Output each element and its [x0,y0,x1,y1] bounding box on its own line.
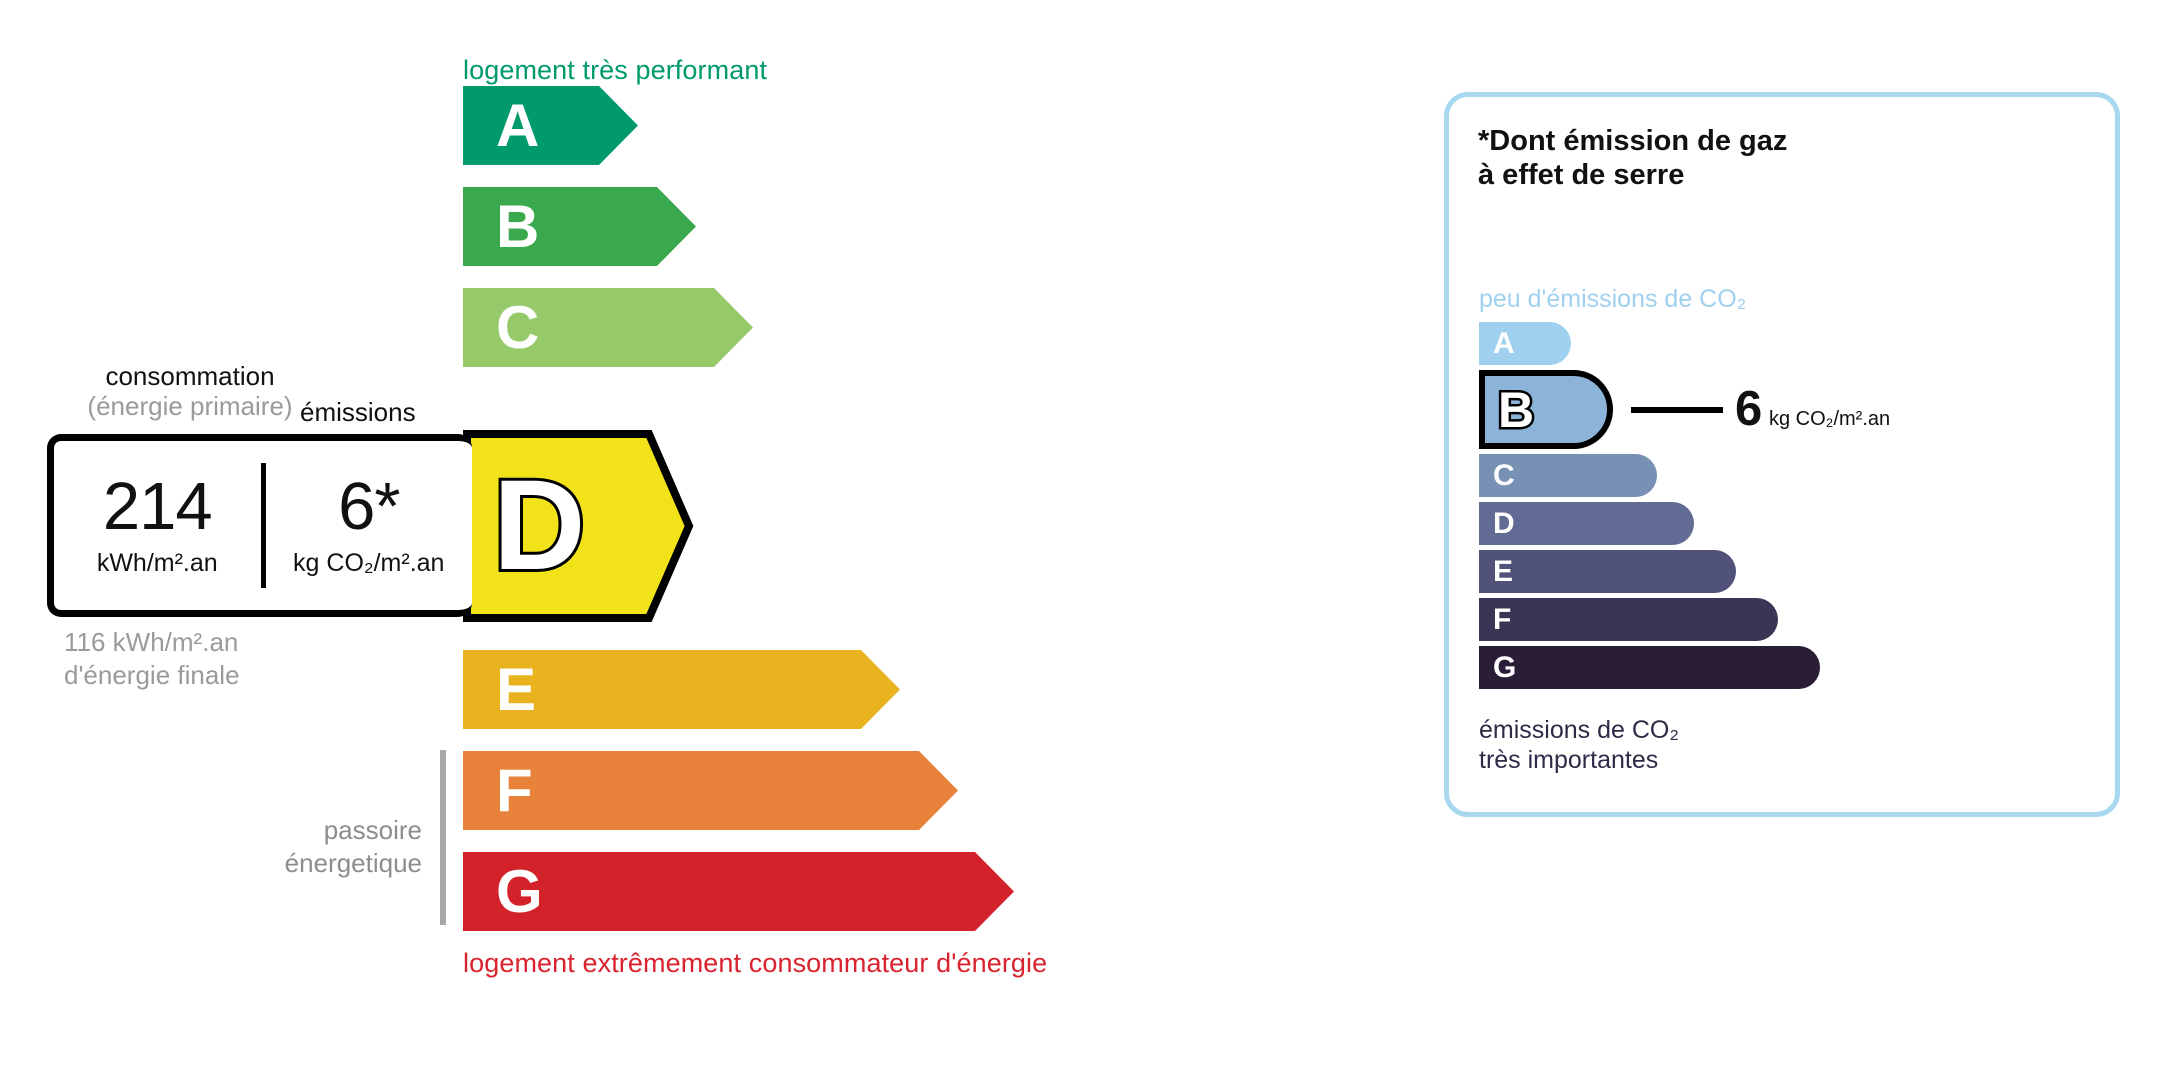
energy-band-D-selected: D [463,430,693,622]
co2-value-unit: kg CO₂/m².an [1769,409,1890,429]
energy-performance-diagram: logement très performant A B C D E [0,0,1380,1079]
emission-unit: kg CO₂/m².an [293,549,444,578]
energy-band-E-letter: E [496,660,536,720]
co2-band-D-letter: D [1493,509,1515,539]
co2-band-G: G [1479,646,1820,689]
energy-band-C-letter: C [496,298,539,358]
co2-bottom-line-1: émissions de CO₂ [1479,715,1679,745]
co2-band-B-selected: B [1479,370,1613,449]
energy-band-B-letter: B [496,197,539,257]
consumption-label-sub: (énergie primaire) [60,392,320,422]
energy-band-G-letter: G [496,862,543,922]
co2-panel-title: *Dont émission de gaz à effet de serre [1478,125,1787,193]
consumption-label-main: consommation [105,361,274,391]
emission-value: 6* [338,473,399,540]
emission-value-cell: 6* kg CO₂/m².an [266,441,473,610]
energy-scale-bottom-caption: logement extrêmement consommateur d'éner… [463,948,1047,979]
energy-band-F: F [463,751,958,830]
passoire-line-2: énergetique [200,847,422,880]
energy-band-D-letter: D [493,462,585,590]
energy-band-G: G [463,852,1014,931]
co2-band-A: A [1479,322,1571,365]
passoire-line-1: passoire [200,814,422,847]
energy-band-B: B [463,187,696,266]
final-energy-note: 116 kWh/m².an d'énergie finale [64,626,240,691]
energy-band-F-letter: F [496,761,533,821]
co2-band-B-letter: B [1498,385,1534,435]
co2-band-A-letter: A [1493,329,1515,359]
energy-band-F-shape [463,751,958,830]
co2-value: 6 [1735,385,1762,434]
co2-band-G-letter: G [1493,653,1516,683]
co2-title-line-2: à effet de serre [1478,159,1787,193]
energy-band-A-letter: A [496,96,539,156]
consumption-label: consommation (énergie primaire) [60,362,320,421]
energy-band-E: E [463,650,900,729]
energy-band-A: A [463,86,638,165]
co2-band-E: E [1479,550,1736,593]
energy-band-G-shape [463,852,1014,931]
co2-scale-top-caption: peu d'émissions de CO₂ [1479,285,1746,314]
passoire-energetique-label: passoire énergetique [200,814,422,879]
energy-value-box: 214 kWh/m².an 6* kg CO₂/m².an [47,434,472,617]
co2-bottom-line-2: très importantes [1479,745,1679,775]
co2-band-C-letter: C [1493,461,1515,491]
co2-band-D: D [1479,502,1694,545]
final-energy-value: 116 kWh/m².an [64,626,240,659]
energy-scale-top-caption: logement très performant [463,55,767,86]
co2-band-F-letter: F [1493,605,1511,635]
passoire-energetique-bracket [440,750,446,925]
co2-scale-bottom-caption: émissions de CO₂ très importantes [1479,715,1679,775]
co2-band-F: F [1479,598,1778,641]
final-energy-text: d'énergie finale [64,659,240,692]
energy-band-A-shape [463,86,638,165]
co2-band-E-letter: E [1493,557,1513,587]
energy-band-C: C [463,288,753,367]
emissions-label: émissions [300,397,416,428]
primary-energy-value: 214 [103,473,212,540]
co2-title-line-1: *Dont émission de gaz [1478,125,1787,159]
co2-band-C: C [1479,454,1657,497]
primary-energy-unit: kWh/m².an [97,549,218,578]
co2-value-leader-line [1631,407,1723,413]
primary-energy-cell: 214 kWh/m².an [54,441,261,610]
co2-emissions-panel: *Dont émission de gaz à effet de serre p… [1444,92,2120,817]
